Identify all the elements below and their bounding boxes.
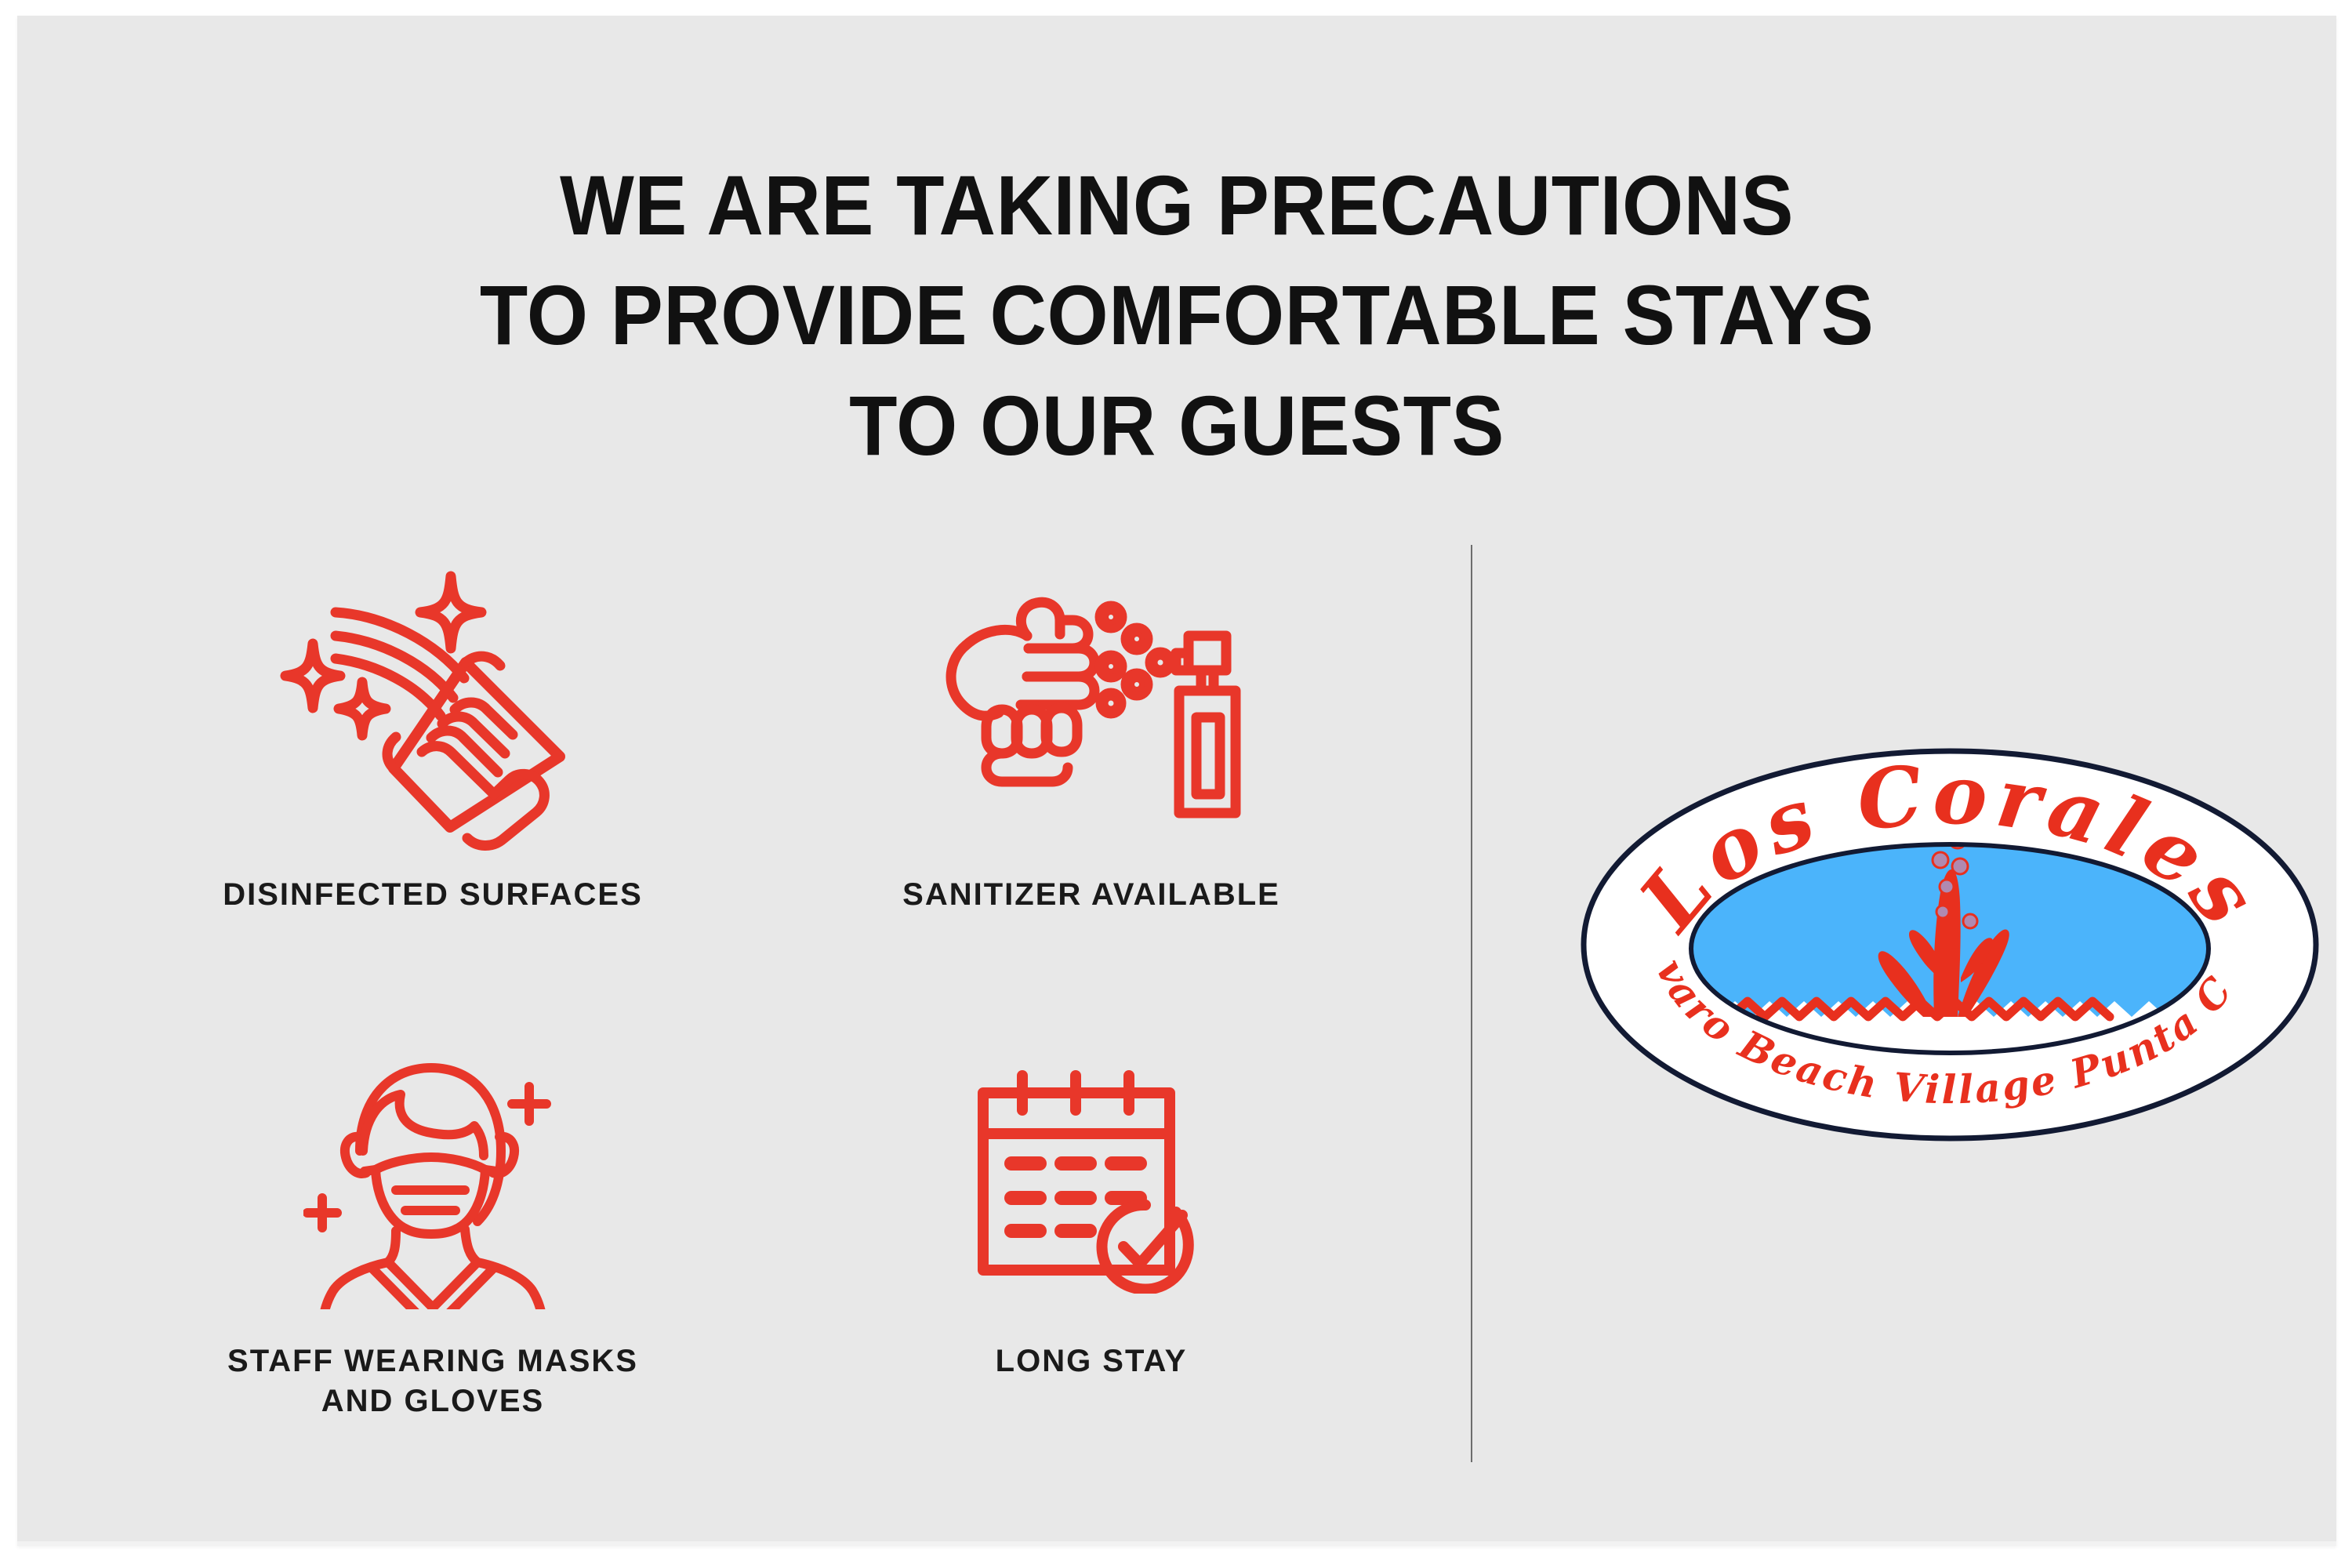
slide-canvas: WE ARE TAKING PRECAUTIONS TO PROVIDE COM… [17, 16, 2336, 1546]
feature-staff-masks-gloves: STAFF WEARING MASKS AND GLOVES [111, 1023, 754, 1421]
feature-disinfected-surfaces: DISINFECTED SURFACES [111, 557, 754, 915]
hand-sanitizer-spray-icon [770, 557, 1413, 870]
feature-sanitizer-available: SANITIZER AVAILABLE [770, 557, 1413, 915]
los-corales-logo: Los Corales Bavaro Beach Village Punta C… [1566, 741, 2334, 1149]
page-title: WE ARE TAKING PRECAUTIONS TO PROVIDE COM… [99, 151, 2256, 481]
headline-line-2: TO PROVIDE COMFORTABLE STAYS [99, 260, 2256, 370]
headline-line-1: WE ARE TAKING PRECAUTIONS [99, 151, 2256, 260]
headline-line-3: TO OUR GUESTS [99, 371, 2256, 481]
calendar-check-icon [770, 1023, 1413, 1337]
precautions-grid: DISINFECTED SURFACES [111, 557, 1428, 1490]
cleaning-cloth-sparkle-icon [111, 557, 754, 870]
feature-label: STAFF WEARING MASKS AND GLOVES [111, 1341, 754, 1421]
feature-label: SANITIZER AVAILABLE [770, 875, 1413, 915]
person-face-mask-icon [111, 1023, 754, 1337]
feature-long-stay: LONG STAY [770, 1023, 1413, 1381]
slide-bleed [17, 1541, 2336, 1546]
vertical-divider [1471, 545, 1472, 1462]
feature-label: DISINFECTED SURFACES [111, 875, 754, 915]
feature-label: LONG STAY [770, 1341, 1413, 1381]
